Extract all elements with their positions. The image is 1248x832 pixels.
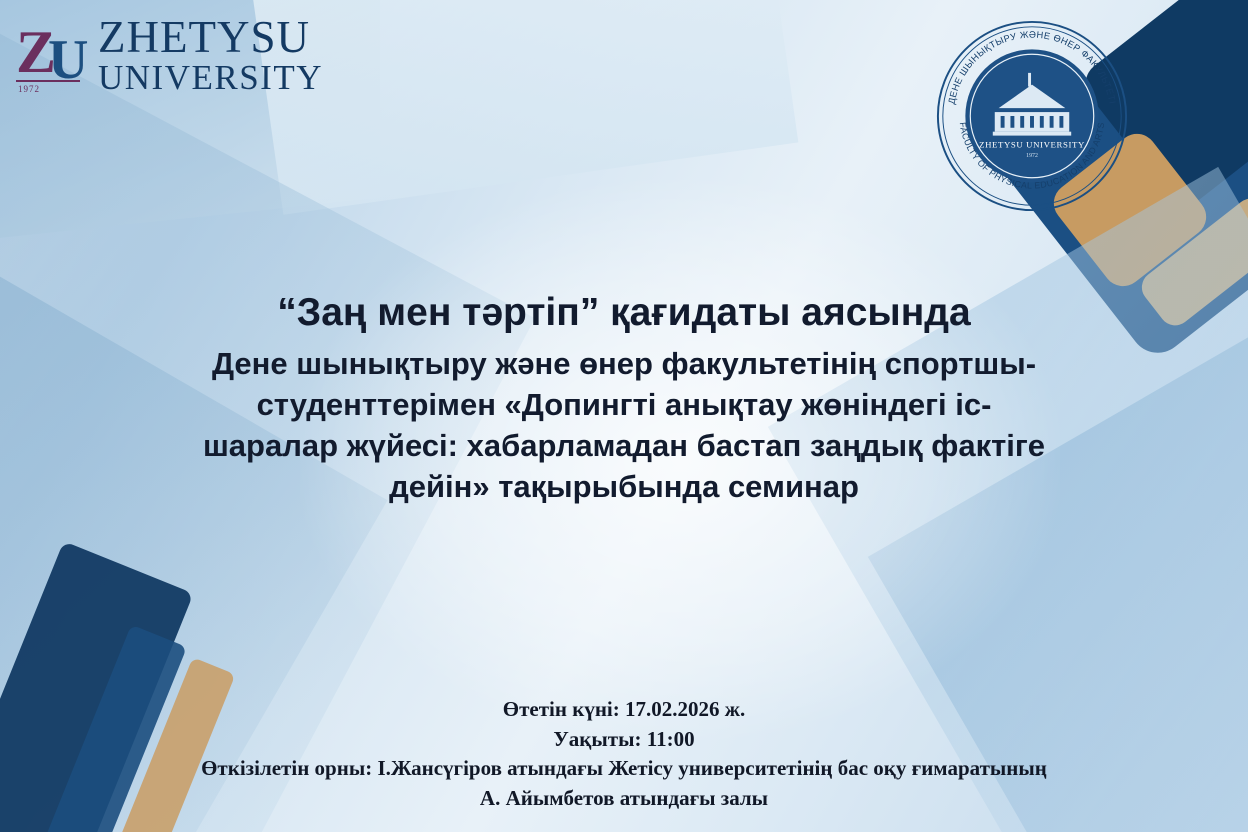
seal-center-text: ZHETYSU UNIVERSITY	[979, 139, 1085, 149]
university-logo-text: ZHETYSU UNIVERSITY	[98, 16, 323, 94]
monogram-rule	[16, 80, 80, 82]
slide-headline: “Заң мен тәртіп” қағидаты аясында	[124, 290, 1124, 336]
event-venue-line1: Өткізілетін орны: І.Жансүгіров атындағы …	[74, 754, 1174, 784]
faculty-seal: ZHETYSU UNIVERSITY 1972 ДЕНЕ ШЫНЫҚТЫРУ Ж…	[934, 18, 1130, 214]
slide-subtitle-line: дейін» тақырыбында семинар	[124, 467, 1124, 508]
university-logo: Z U 1972 ZHETYSU UNIVERSITY	[14, 16, 323, 94]
title-block: “Заң мен тәртіп” қағидаты аясында Дене ш…	[124, 290, 1124, 508]
university-name-line1: ZHETYSU	[98, 16, 323, 59]
presentation-slide: Z U 1972 ZHETYSU UNIVERSITY	[0, 0, 1248, 832]
monogram-established-year: 1972	[18, 84, 40, 94]
slide-subtitle-line: студенттерімен «Допингті анықтау жөнінде…	[124, 385, 1124, 426]
faculty-seal-icon: ZHETYSU UNIVERSITY 1972 ДЕНЕ ШЫНЫҚТЫРУ Ж…	[934, 18, 1130, 214]
slide-subtitle-line: шаралар жүйесі: хабарламадан бастап заңд…	[124, 426, 1124, 467]
slide-subtitle: Дене шынықтыру және өнер факультетінің с…	[124, 344, 1124, 508]
event-details: Өтетін күні: 17.02.2026 ж. Уақыты: 11:00…	[74, 695, 1174, 814]
event-date: Өтетін күні: 17.02.2026 ж.	[74, 695, 1174, 725]
zu-monogram-icon: Z U 1972	[14, 16, 88, 94]
slide-subtitle-line: Дене шынықтыру және өнер факультетінің с…	[124, 344, 1124, 385]
seal-center-year: 1972	[1026, 153, 1038, 159]
university-name-line2: UNIVERSITY	[98, 61, 323, 94]
event-time: Уақыты: 11:00	[74, 725, 1174, 755]
event-venue-line2: А. Айымбетов атындағы залы	[74, 784, 1174, 814]
